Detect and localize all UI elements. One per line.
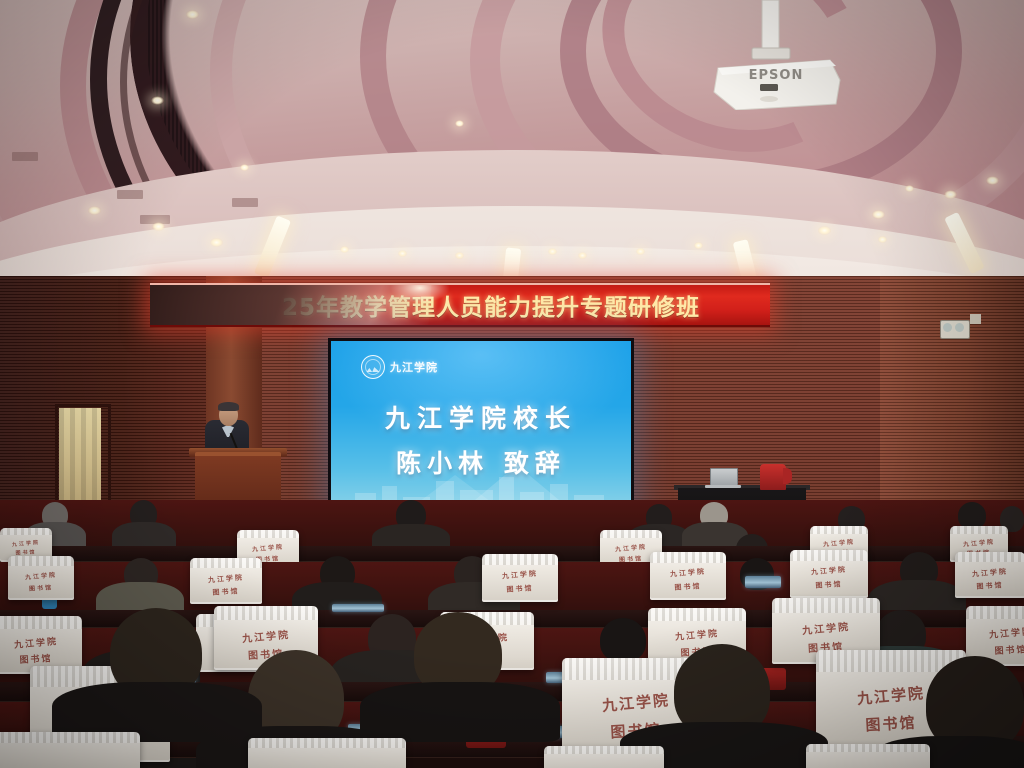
- audience-seating: 九江学院 图书馆 九江学院 图书馆 九江学院 图书馆 九江学院 图书馆 九江学院…: [0, 500, 1024, 768]
- projector-vent: [760, 96, 778, 102]
- emergency-light-icon: [940, 320, 970, 339]
- downlight: [340, 246, 349, 253]
- chair-cover-line-1: 九江学院: [482, 567, 559, 584]
- downlight: [151, 96, 164, 105]
- projection-screen: 九江学院 九江学院校长 陈小林 致辞: [328, 338, 634, 516]
- chair-cover: 九江学院 图书馆: [482, 554, 558, 602]
- chair-cover: 九江学院 图书馆: [790, 550, 868, 598]
- chair-cover-line-2: 图书馆: [190, 585, 262, 599]
- downlight: [398, 250, 407, 257]
- chair-cover-line-1: 九江学院: [790, 563, 869, 580]
- downlight: [240, 164, 249, 171]
- chair-cover: 九江学院 图书馆: [955, 552, 1024, 598]
- chair-cover: 九江学院 图书馆: [650, 552, 726, 600]
- chair-cover-line-1: 九江学院: [190, 571, 263, 587]
- chair-cover: [248, 738, 406, 768]
- chair-cover-line-1: 九江学院: [955, 565, 1024, 581]
- downlight: [872, 210, 885, 219]
- chair-cover-line-1: 九江学院: [650, 565, 727, 582]
- chair-cover-line-2: 图书馆: [482, 582, 558, 596]
- downlight: [694, 242, 703, 249]
- downlight: [986, 176, 999, 185]
- wall-outlet-box: [970, 314, 981, 324]
- downlight: [186, 10, 199, 19]
- downlight: [548, 248, 557, 255]
- chair-cover-line-1: 九江学院: [8, 568, 75, 583]
- downlight: [578, 252, 587, 259]
- chair-cover-line-2: 图书馆: [8, 582, 74, 594]
- tablet-monitor: [745, 576, 781, 588]
- chair-cover-line-2: 图书馆: [955, 579, 1024, 593]
- audience-head: [600, 618, 646, 662]
- ceiling-vent: [12, 152, 38, 161]
- projector-pole: [762, 0, 779, 50]
- red-chair: [760, 464, 786, 490]
- chair-cover-line-2: 图书馆: [0, 650, 82, 668]
- downlight: [636, 248, 645, 255]
- ceiling-vent: [117, 190, 143, 199]
- audience-head: [958, 502, 986, 529]
- university-logo: 九江学院: [361, 355, 438, 379]
- ceiling-vent: [232, 198, 258, 207]
- chair-cover: [0, 732, 140, 768]
- downlight: [88, 206, 101, 215]
- screen-title-line-2: 陈小林 致辞: [331, 444, 631, 480]
- laptop-base: [705, 485, 741, 488]
- audience-torso: [360, 682, 560, 742]
- logo-cn-text: 九江学院: [390, 359, 438, 375]
- downlight: [455, 252, 464, 259]
- projector-lens: [760, 84, 778, 91]
- downlight: [944, 190, 957, 199]
- downlight: [878, 236, 887, 243]
- downlight: [455, 120, 464, 127]
- chair-cover: [544, 746, 664, 768]
- chair-cover: 九江学院 图书馆: [190, 558, 262, 604]
- speaker-hair: [218, 402, 239, 411]
- downlight: [905, 185, 914, 192]
- chair-cover-line-2: 图书馆: [650, 580, 726, 594]
- university-emblem-icon: [361, 355, 385, 379]
- chair-cover-line-1: 九江学院: [966, 622, 1024, 643]
- event-banner: 25年教学管理人员能力提升专题研修班: [150, 283, 770, 323]
- auditorium-photo: EPSON 25年教学管理人员能力提升专题研修班: [0, 0, 1024, 768]
- chair-cover-line-2: 图书馆: [790, 578, 868, 592]
- downlight: [152, 222, 165, 231]
- projector: EPSON: [700, 0, 890, 110]
- projector-brand-label: EPSON: [749, 68, 804, 83]
- tablet-monitor: [332, 604, 384, 612]
- downlight: [818, 226, 831, 235]
- screen-title-line-1: 九江学院校长: [331, 399, 631, 435]
- projector-bracket: [752, 48, 790, 59]
- downlight: [210, 238, 223, 247]
- chair-cover: [806, 744, 930, 768]
- chair-cover: 九江学院 图书馆: [8, 556, 74, 600]
